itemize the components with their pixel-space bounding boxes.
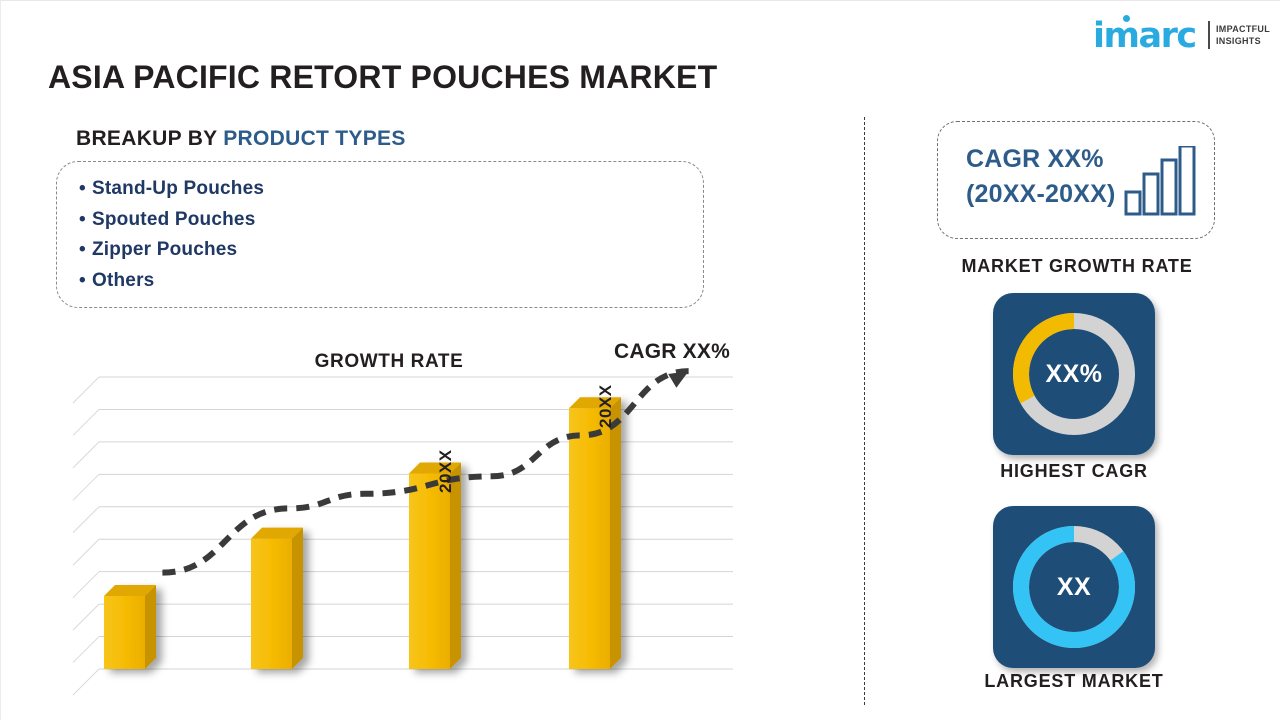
product-types-box: •Stand-Up Pouches •Spouted Pouches •Zipp… <box>56 161 704 308</box>
chart-cagr-label: CAGR XX% <box>614 340 730 364</box>
list-item-label: Others <box>92 270 154 291</box>
logo-tagline-line1: IMPACTFUL <box>1216 23 1270 35</box>
chart-bars <box>104 397 621 669</box>
list-item-label: Spouted Pouches <box>92 209 255 230</box>
subtitle-highlight: PRODUCT TYPES <box>223 127 405 150</box>
section-subtitle: BREAKUP BY PRODUCT TYPES <box>76 127 406 151</box>
cagr-period: (20XX-20XX) <box>966 177 1116 212</box>
market-growth-rate-label: MARKET GROWTH RATE <box>927 256 1227 277</box>
bar-value-label: 20XX <box>436 450 456 494</box>
bullet-icon: • <box>79 235 92 266</box>
logo-tagline: IMPACTFUL INSIGHTS <box>1216 23 1270 47</box>
subtitle-prefix: BREAKUP BY <box>76 127 217 150</box>
logo-divider <box>1208 21 1210 49</box>
page-title: ASIA PACIFIC RETORT POUCHES MARKET <box>48 59 717 96</box>
largest-market-card: XX <box>993 506 1155 668</box>
imarc-logo: imarc IMPACTFUL INSIGHTS <box>1093 15 1265 55</box>
largest-market-label: LARGEST MARKET <box>924 671 1224 692</box>
highest-cagr-label: HIGHEST CAGR <box>924 461 1224 482</box>
chart-gridlines <box>73 377 733 695</box>
cagr-value: CAGR XX% <box>966 142 1116 177</box>
highest-cagr-card: XX% <box>993 293 1155 455</box>
largest-market-value: XX <box>993 506 1155 668</box>
logo-tagline-line2: INSIGHTS <box>1216 35 1270 47</box>
bar-chart-svg <box>61 331 761 706</box>
list-item: •Stand-Up Pouches <box>79 174 264 205</box>
list-item: •Zipper Pouches <box>79 235 264 266</box>
product-types-list: •Stand-Up Pouches •Spouted Pouches •Zipp… <box>79 174 264 296</box>
panel-divider <box>864 117 865 705</box>
chart-x-axis-label: GROWTH RATE <box>289 351 489 373</box>
infographic-page: imarc IMPACTFUL INSIGHTS ASIA PACIFIC RE… <box>0 0 1280 720</box>
list-item-label: Zipper Pouches <box>92 239 237 260</box>
logo-wordmark: imarc <box>1093 19 1196 53</box>
growth-bar-chart: CAGR XX% 20XX 20XX <box>61 331 761 706</box>
bullet-icon: • <box>79 266 92 297</box>
list-item: •Others <box>79 266 264 297</box>
list-item: •Spouted Pouches <box>79 205 264 236</box>
list-item-label: Stand-Up Pouches <box>92 178 264 199</box>
cagr-text: CAGR XX% (20XX-20XX) <box>966 142 1116 212</box>
bar-chart-icon <box>1123 146 1199 216</box>
bullet-icon: • <box>79 174 92 205</box>
bar-value-label: 20XX <box>596 385 616 429</box>
highest-cagr-value: XX% <box>993 293 1155 455</box>
bullet-icon: • <box>79 205 92 236</box>
